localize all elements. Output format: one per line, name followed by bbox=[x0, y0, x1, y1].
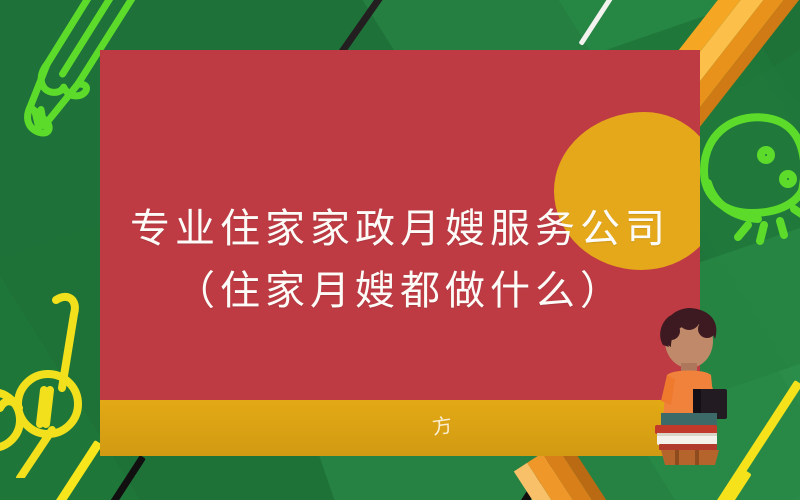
footer-mark-text: 方 bbox=[430, 409, 454, 441]
headline-text: 专业住家家政月嫂服务公司 （住家月嫂都做什么） bbox=[100, 198, 700, 322]
content-card: 专业住家家政月嫂服务公司 （住家月嫂都做什么） 方 bbox=[100, 50, 700, 456]
banner-image: 专业住家家政月嫂服务公司 （住家月嫂都做什么） 方 bbox=[0, 0, 800, 500]
headline-line-2: （住家月嫂都做什么） bbox=[100, 260, 700, 322]
glasses-doodle-icon bbox=[0, 278, 110, 478]
card-footer-bar: 方 bbox=[100, 400, 700, 456]
headline-line-1: 专业住家家政月嫂服务公司 bbox=[100, 198, 700, 260]
student-with-books-illustration bbox=[645, 305, 740, 470]
